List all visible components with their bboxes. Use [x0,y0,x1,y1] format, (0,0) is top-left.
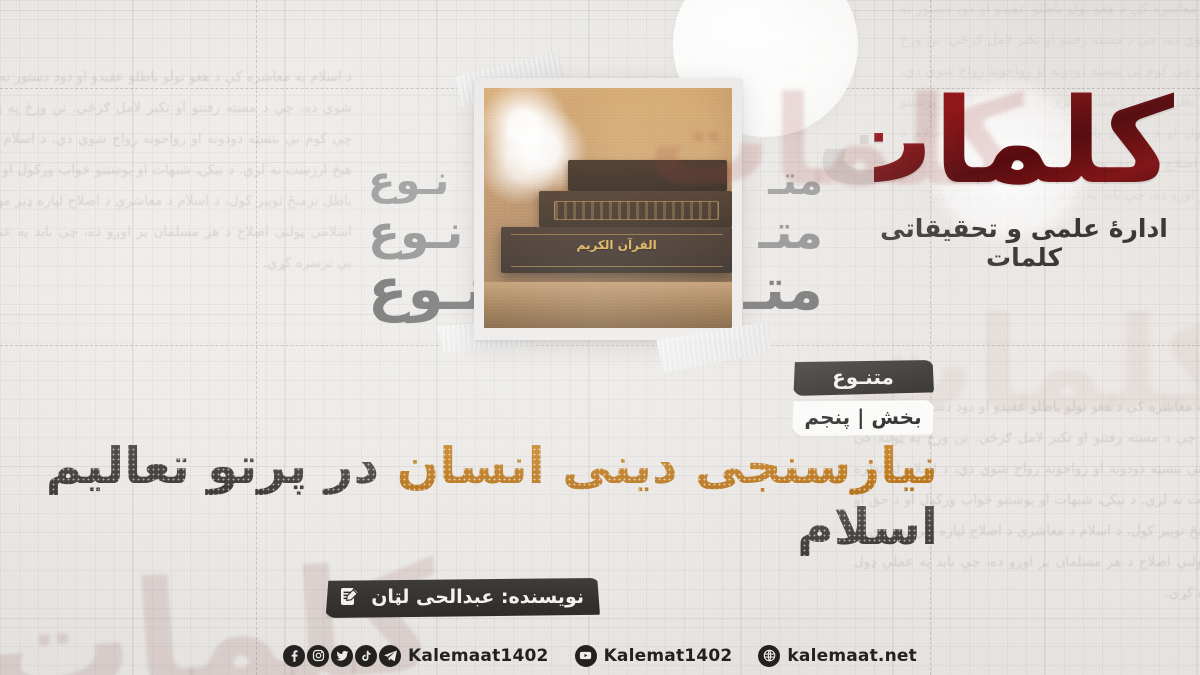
social-handle-youtube: Kalemat1402 [604,646,733,666]
article-title: نیازسنجی دینی انسان در پرتو تعالیم اسلام [238,436,938,558]
note-pen-icon [338,585,362,609]
guide-line-v1 [256,0,257,675]
tiktok-icon[interactable] [355,645,377,667]
social-group-website: kalemaat.net [758,645,917,667]
watermark-left-part: نـوع [368,158,449,204]
youtube-icon[interactable] [575,645,597,667]
social-footer: Kalemaat1402 Kalemat1402 kalemaat.net [0,636,1200,675]
globe-icon[interactable] [758,645,780,667]
twitter-icon[interactable] [331,645,353,667]
social-group-youtube: Kalemat1402 [575,645,733,667]
instagram-icon[interactable] [307,645,329,667]
title-rest-1: در پرتو تعالیم [46,437,379,495]
title-line-2: اسلام [238,497,938,558]
poster-canvas: د اسلام په معاشره کې د هغو تولو باطلو عق… [0,0,1200,675]
logo-text: کلمات [874,74,1174,210]
social-handle-primary: Kalemaat1402 [408,646,549,666]
badge-part: بخش | پنجم [792,400,934,436]
author-badge: نویسنده: عبدالحی لټان [324,578,600,618]
background-paragraph-left: د اسلام په معاشره کې د هغو تولو باطلو عق… [0,62,352,279]
author-label: نویسنده: عبدالحی لټان [371,586,584,608]
badge-category: متنـوع [792,360,934,396]
social-icon-row [283,645,401,667]
logo-tagline: ادارۀ علمی و تحقیقاتی کلمات [874,214,1174,272]
badge-group: متنـوع بخش | پنجم [792,360,934,436]
title-line-1: نیازسنجی دینی انسان در پرتو تعالیم [238,436,938,497]
watermark-left-part: نـوع [368,255,486,323]
title-highlight: نیازسنجی دینی انسان [397,437,938,495]
guide-line-h2 [0,345,1200,346]
social-group-primary: Kalemaat1402 [283,645,549,667]
social-handle-website: kalemaat.net [787,646,917,666]
brand-logo-block: کلمات کلمات ادارۀ علمی و تحقیقاتی کلمات [874,74,1174,272]
watermark-right-part: متـ [744,255,823,323]
facebook-icon[interactable] [283,645,305,667]
title-rest-2: اسلام [797,498,938,556]
watermark-left-part: نـوع [368,205,463,260]
telegram-icon[interactable] [379,645,401,667]
